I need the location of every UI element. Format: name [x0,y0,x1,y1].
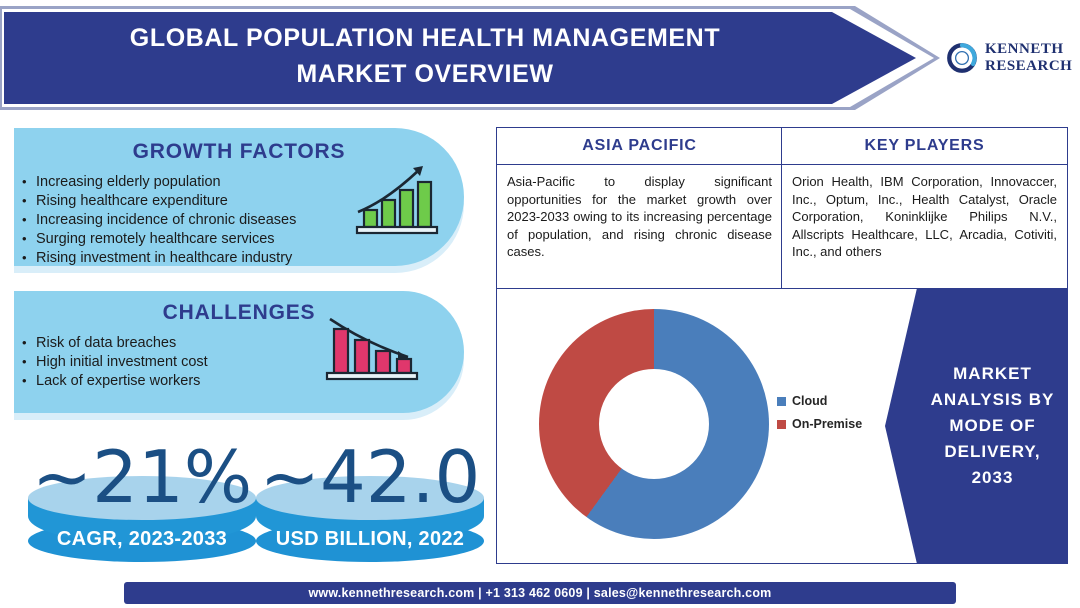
legend-label-cloud: Cloud [792,394,827,408]
legend-item-on-premise: On-Premise [777,417,862,431]
key-players-title: KEY PLAYERS [782,128,1067,165]
growth-factors-list: Increasing elderly population Rising hea… [14,173,364,268]
challenges-card: CHALLENGES Risk of data breaches High in… [14,291,464,413]
key-players-body: Orion Health, IBM Corporation, Innovacce… [782,165,1067,267]
asia-pacific-title: ASIA PACIFIC [497,128,782,165]
footer-text: www.kennethresearch.com | +1 313 462 060… [309,586,772,600]
kenneth-research-swirl-icon [945,41,979,75]
stat-disc-market-size: ~42.0 USD BILLION, 2022 [256,450,484,562]
key-players-panel: KEY PLAYERS Orion Health, IBM Corporatio… [781,127,1068,289]
growth-factors-card: GROWTH FACTORS Increasing elderly popula… [14,128,464,266]
stat-label: CAGR, 2023-2033 [28,528,256,551]
donut-center-hole [599,369,709,479]
legend-label-on-premise: On-Premise [792,417,862,431]
chart-legend: Cloud On-Premise [777,394,862,440]
page-title: GLOBAL POPULATION HEALTH MANAGEMENT MARK… [30,20,820,92]
list-item: Rising investment in healthcare industry [14,249,364,268]
list-item: High initial investment cost [14,353,344,372]
list-item: Lack of expertise workers [14,372,344,391]
rising-bar-chart-icon [354,160,440,236]
brand-logo-text: KENNETH RESEARCH [985,41,1072,75]
asia-pacific-body: Asia-Pacific to display significant oppo… [497,165,782,267]
legend-item-cloud: Cloud [777,394,862,408]
legend-swatch-cloud [777,397,786,406]
page-title-line1: GLOBAL POPULATION HEALTH MANAGEMENT [30,20,820,56]
stat-value: ~42.0 [256,434,484,520]
legend-swatch-on-premise [777,420,786,429]
stat-disc-cagr: ~21% CAGR, 2023-2033 [28,450,256,562]
chart-side-panel: MARKET ANALYSIS BY MODE OF DELIVERY, 203… [885,288,1068,564]
mode-of-delivery-chart-panel: Cloud On-Premise MARKET ANALYSIS BY MODE… [496,288,1068,564]
stat-label: USD BILLION, 2022 [256,528,484,551]
brand-name-line2: RESEARCH [985,58,1072,75]
brand-name-line1: KENNETH [985,41,1072,58]
declining-bar-chart-icon [324,313,420,385]
brand-logo: KENNETH RESEARCH [945,33,1075,83]
list-item: Risk of data breaches [14,334,344,353]
list-item: Surging remotely healthcare services [14,230,364,249]
list-item: Rising healthcare expenditure [14,192,364,211]
list-item: Increasing incidence of chronic diseases [14,211,364,230]
header-banner: GLOBAL POPULATION HEALTH MANAGEMENT MARK… [0,6,940,110]
challenges-list: Risk of data breaches High initial inves… [14,334,344,391]
page-title-line2: MARKET OVERVIEW [30,56,820,92]
chart-side-panel-text: MARKET ANALYSIS BY MODE OF DELIVERY, 203… [925,288,1060,564]
footer-contact-bar: www.kennethresearch.com | +1 313 462 060… [124,582,956,604]
asia-pacific-panel: ASIA PACIFIC Asia-Pacific to display sig… [496,127,783,289]
stat-value: ~21% [28,434,256,520]
list-item: Increasing elderly population [14,173,364,192]
